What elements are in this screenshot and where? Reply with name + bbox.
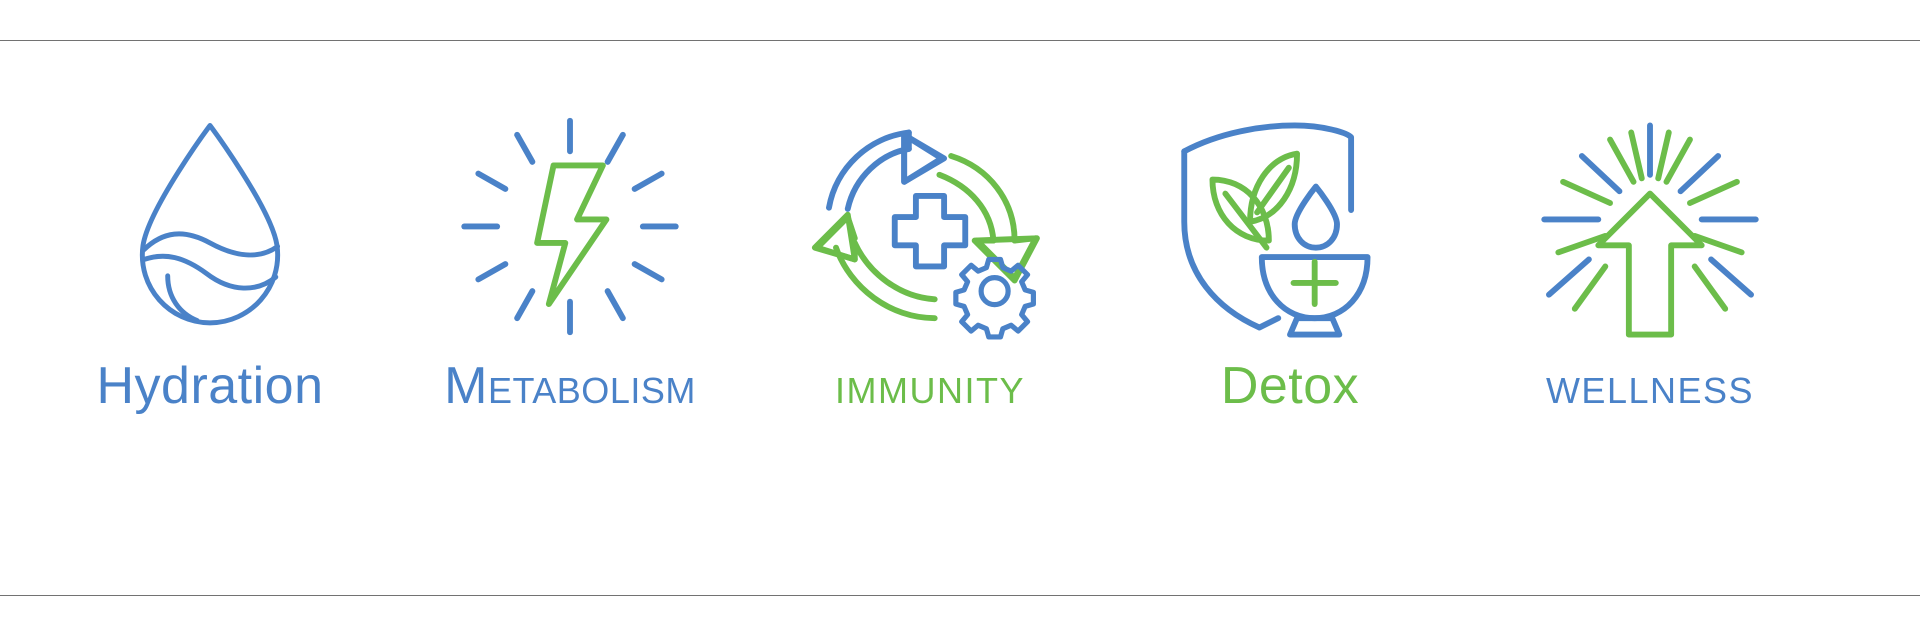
feature-item-detox[interactable]: Detox [1110,41,1470,595]
feature-item-metabolism[interactable]: Metabolism [390,41,750,595]
feature-label-metabolism: Metabolism [444,358,696,414]
water-drop-waves-icon [80,109,340,344]
bottom-divider [0,595,1920,596]
feature-row: Hydration [0,41,1920,595]
feature-label-detox: Detox [1221,358,1359,414]
feature-label-immunity: Immunity [835,358,1025,414]
feature-item-wellness[interactable]: Wellness [1470,41,1830,595]
feature-label-wellness: Wellness [1546,358,1754,414]
cycle-arrows-cross-gear-icon [800,109,1060,344]
wellness-icon-banner: Hydration [0,0,1920,640]
feature-label-hydration: Hydration [96,358,323,414]
shield-leaf-drop-bowl-icon [1160,109,1420,344]
feature-item-immunity[interactable]: Immunity [750,41,1110,595]
up-arrow-rays-icon [1520,109,1780,344]
feature-item-hydration[interactable]: Hydration [30,41,390,595]
lightning-bolt-rays-icon [440,109,700,344]
